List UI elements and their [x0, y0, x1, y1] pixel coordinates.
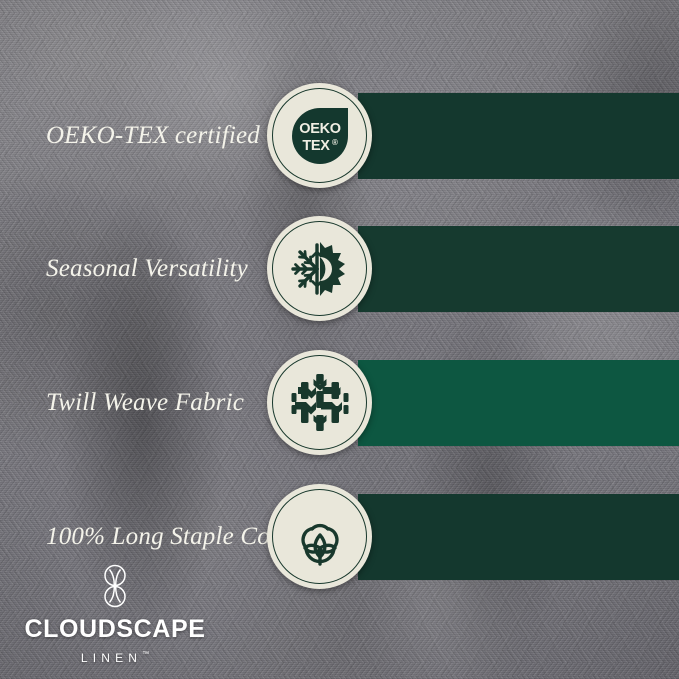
feature-bar: [358, 226, 679, 312]
interlocking-loops-logo-icon: [96, 562, 134, 610]
feature-badge-oeko-tex: OEKO TEX ®: [267, 83, 372, 188]
trademark-symbol: ™: [142, 651, 149, 658]
feature-label: Twill Weave Fabric: [46, 389, 244, 417]
woven-twill-icon: [285, 368, 355, 438]
cotton-boll-icon: [286, 503, 354, 571]
svg-text:OEKO: OEKO: [299, 121, 341, 137]
feature-row-seasonal-versatility: Seasonal Versatility: [0, 226, 679, 312]
brand-subtitle: LINEN™: [22, 651, 208, 664]
feature-row-oeko-tex: OEKO-TEX certified OEKO TEX ®: [0, 93, 679, 179]
feature-row-twill-weave: Twill Weave Fabric: [0, 360, 679, 446]
brand-lockup: CLOUDSCAPE LINEN™: [22, 562, 208, 664]
feature-badge-seasonal-versatility: [267, 216, 372, 321]
feature-badge-twill-weave: [267, 350, 372, 455]
brand-subtitle-text: LINEN: [81, 651, 142, 665]
brand-name: CLOUDSCAPE: [22, 617, 208, 642]
svg-text:®: ®: [332, 138, 338, 147]
snowflake-sun-icon: [287, 236, 353, 302]
feature-bar: [358, 494, 679, 580]
svg-text:TEX: TEX: [302, 138, 330, 154]
feature-bar: [358, 93, 679, 179]
feature-label: Seasonal Versatility: [46, 255, 248, 283]
feature-badge-long-staple-cotton: [267, 484, 372, 589]
oeko-tex-seal-icon: OEKO TEX ®: [284, 100, 356, 172]
feature-label: OEKO-TEX certified: [46, 122, 260, 150]
feature-bar: [358, 360, 679, 446]
product-feature-infographic: OEKO-TEX certified OEKO TEX ® Seasonal V…: [0, 0, 679, 679]
